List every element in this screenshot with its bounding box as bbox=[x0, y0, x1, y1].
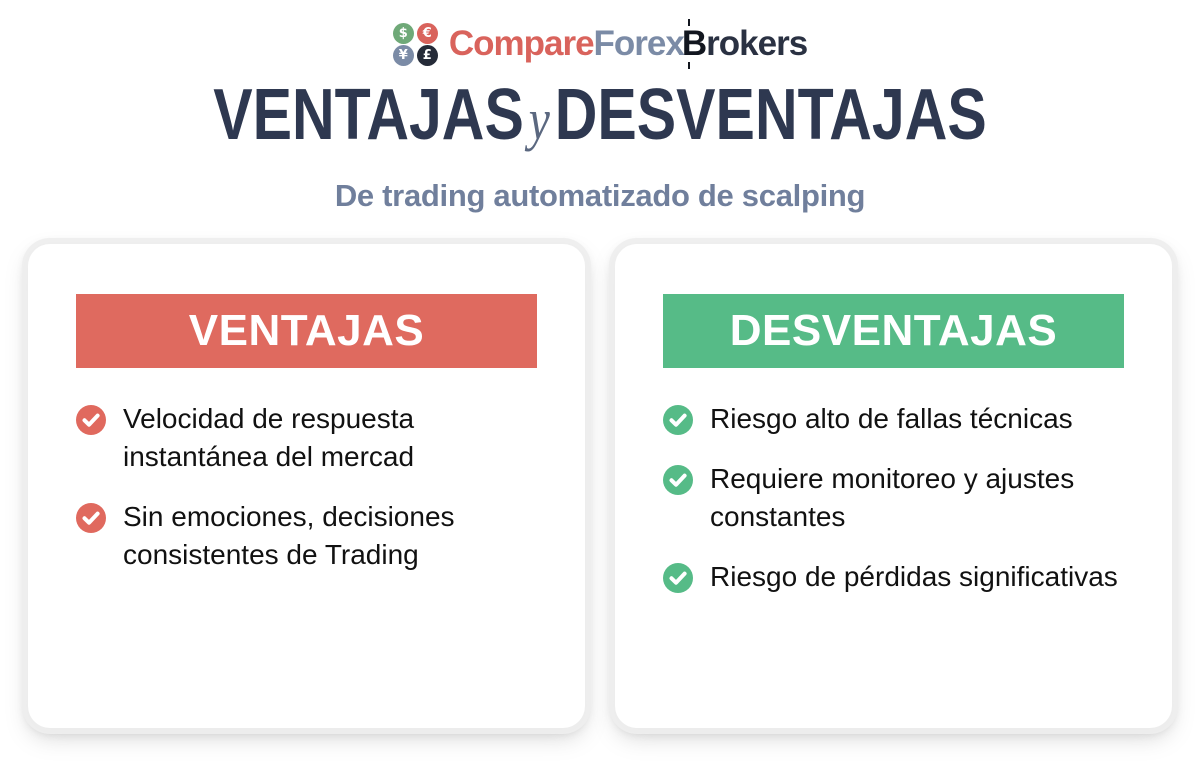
list-item-label: Sin emociones, decisiones consistentes d… bbox=[123, 498, 543, 574]
list-item: Riesgo de pérdidas significativas bbox=[663, 558, 1143, 596]
check-circle-icon bbox=[663, 405, 693, 435]
brand-word-forex: Forex bbox=[594, 24, 684, 63]
page-title-right: DESVENTAJAS bbox=[555, 75, 987, 155]
list-item: Riesgo alto de fallas técnicas bbox=[663, 400, 1143, 438]
euro-coin-icon: € bbox=[417, 23, 438, 44]
yen-coin-icon: ¥ bbox=[393, 45, 414, 66]
brand-wordmark: CompareForexBrokers bbox=[449, 24, 807, 64]
check-circle-icon bbox=[663, 563, 693, 593]
currency-coins-logo: $ € ¥ £ bbox=[393, 23, 439, 66]
list-item: Velocidad de respuesta instantánea del m… bbox=[76, 400, 556, 476]
bitcoin-b-icon: B bbox=[682, 24, 706, 64]
dollar-coin-icon: $ bbox=[393, 23, 414, 44]
list-item-label: Riesgo alto de fallas técnicas bbox=[710, 400, 1073, 438]
page-title-left: VENTAJAS bbox=[213, 75, 524, 155]
list-item: Sin emociones, decisiones consistentes d… bbox=[76, 498, 556, 574]
pros-banner: VENTAJAS bbox=[76, 294, 537, 368]
cons-list: Riesgo alto de fallas técnicas Requiere … bbox=[663, 400, 1143, 618]
brand-word-compare: Compare bbox=[449, 24, 594, 63]
page-title-separator: y bbox=[524, 87, 555, 152]
cons-banner: DESVENTAJAS bbox=[663, 294, 1124, 368]
check-circle-icon bbox=[663, 465, 693, 495]
pros-list: Velocidad de respuesta instantánea del m… bbox=[76, 400, 556, 596]
check-circle-icon bbox=[76, 503, 106, 533]
page-subtitle: De trading automatizado de scalping bbox=[0, 178, 1200, 214]
list-item: Requiere monitoreo y ajustes constantes bbox=[663, 460, 1143, 536]
pound-coin-icon: £ bbox=[417, 45, 438, 66]
cons-banner-label: DESVENTAJAS bbox=[730, 306, 1057, 356]
list-item-label: Riesgo de pérdidas significativas bbox=[710, 558, 1118, 596]
check-circle-icon bbox=[76, 405, 106, 435]
list-item-label: Velocidad de respuesta instantánea del m… bbox=[123, 400, 543, 476]
brand-word-brokers: rokers bbox=[706, 24, 807, 63]
cons-card: DESVENTAJAS Riesgo alto de fallas técnic… bbox=[615, 244, 1172, 728]
page-title: VENTAJASyDESVENTAJAS bbox=[108, 78, 1092, 157]
list-item-label: Requiere monitoreo y ajustes constantes bbox=[710, 460, 1130, 536]
pros-banner-label: VENTAJAS bbox=[189, 306, 424, 356]
pros-card: VENTAJAS Velocidad de respuesta instantá… bbox=[28, 244, 585, 728]
brand-header: $ € ¥ £ CompareForexBrokers bbox=[0, 20, 1200, 68]
